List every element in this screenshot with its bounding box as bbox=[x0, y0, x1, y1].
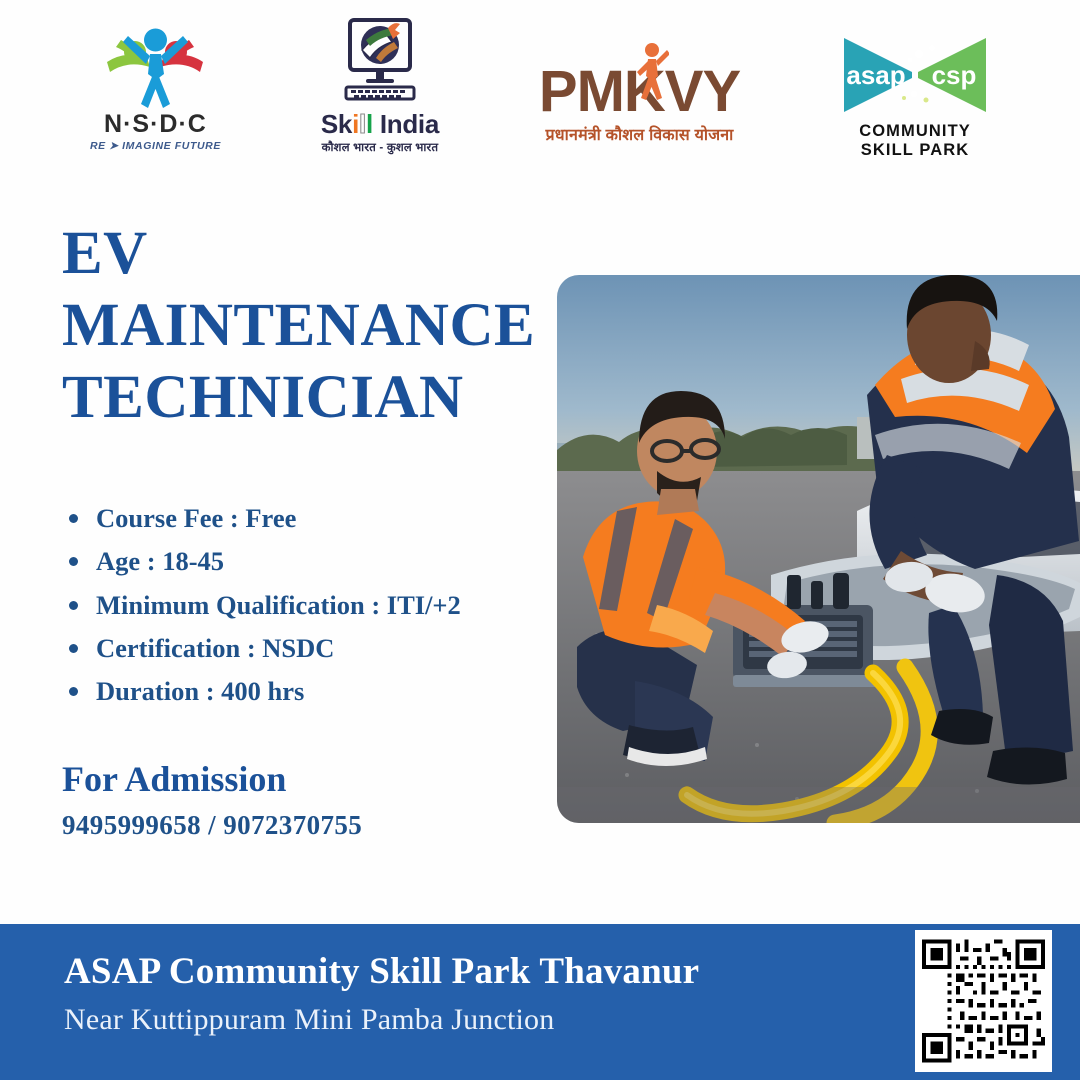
skill-india-wordmark-india: India bbox=[373, 109, 439, 139]
list-item: Minimum Qualification : ITI/+2 bbox=[62, 589, 562, 621]
partner-logo-strip: N·S·D·C RE ➤ IMAGINE FUTURE bbox=[0, 18, 1080, 178]
pmkvy-person-icon bbox=[635, 42, 669, 100]
organization-address: Near Kuttippuram Mini Pamba Junction bbox=[64, 1003, 554, 1037]
course-title-line-2: MAINTENANCE bbox=[62, 290, 562, 362]
ev-technicians-photo bbox=[557, 275, 1080, 823]
ev-technicians-photo-illustration bbox=[557, 275, 1080, 823]
skill-india-wordmark-l2: l bbox=[366, 109, 373, 139]
nsdc-wordmark: N·S·D·C bbox=[104, 112, 207, 137]
skill-india-monitor-icon bbox=[332, 18, 428, 110]
pmkvy-wordmark: PMKVY bbox=[539, 64, 740, 119]
csp-wordmark: csp bbox=[932, 60, 977, 90]
list-item: Certification : NSDC bbox=[62, 632, 562, 664]
asap-csp-bowtie-icon: asap csp bbox=[840, 32, 990, 118]
pmkvy-logo: PMKVY प्रधानमंत्री कौशल विकास योजना bbox=[539, 64, 740, 145]
nsdc-logo: N·S·D·C RE ➤ IMAGINE FUTURE bbox=[90, 18, 221, 152]
skill-india-wordmark-sk: Sk bbox=[321, 109, 352, 139]
organization-name: ASAP Community Skill Park Thavanur bbox=[64, 950, 699, 993]
nsdc-people-icon bbox=[95, 18, 215, 110]
skill-india-logo: Skill India कौशल भारत - कुशल भारत bbox=[321, 18, 439, 155]
skill-india-tagline: कौशल भारत - कुशल भारत bbox=[322, 140, 439, 155]
qr-code-image bbox=[922, 937, 1045, 1065]
admission-phone-numbers: 9495999658 / 9072370755 bbox=[62, 810, 362, 841]
asap-wordmark: asap bbox=[846, 60, 905, 90]
skill-india-wordmark-i: i bbox=[352, 109, 359, 139]
qr-code[interactable] bbox=[915, 930, 1052, 1072]
skill-india-wordmark: Skill India bbox=[321, 111, 439, 137]
asap-csp-tagline-line2: SKILL PARK bbox=[859, 141, 971, 160]
pmkvy-tagline: प्रधानमंत्री कौशल विकास योजना bbox=[546, 123, 734, 145]
course-title-line-1: EV bbox=[62, 218, 562, 290]
admission-heading: For Admission bbox=[62, 758, 286, 800]
asap-csp-tagline: COMMUNITY SKILL PARK bbox=[859, 122, 971, 160]
skill-india-wordmark-l1: l bbox=[359, 109, 366, 139]
course-title-line-3: TECHNICIAN bbox=[62, 362, 562, 434]
asap-csp-tagline-line1: COMMUNITY bbox=[859, 122, 971, 141]
list-item: Duration : 400 hrs bbox=[62, 675, 562, 707]
course-details-list: Course Fee : Free Age : 18-45 Minimum Qu… bbox=[62, 502, 562, 719]
nsdc-tagline: RE ➤ IMAGINE FUTURE bbox=[90, 140, 221, 152]
list-item: Course Fee : Free bbox=[62, 502, 562, 534]
poster: N·S·D·C RE ➤ IMAGINE FUTURE bbox=[0, 0, 1080, 1080]
course-title: EV MAINTENANCE TECHNICIAN bbox=[62, 218, 562, 434]
asap-csp-logo: asap csp COMMUNITY SKILL PARK bbox=[840, 32, 990, 160]
list-item: Age : 18-45 bbox=[62, 545, 562, 577]
